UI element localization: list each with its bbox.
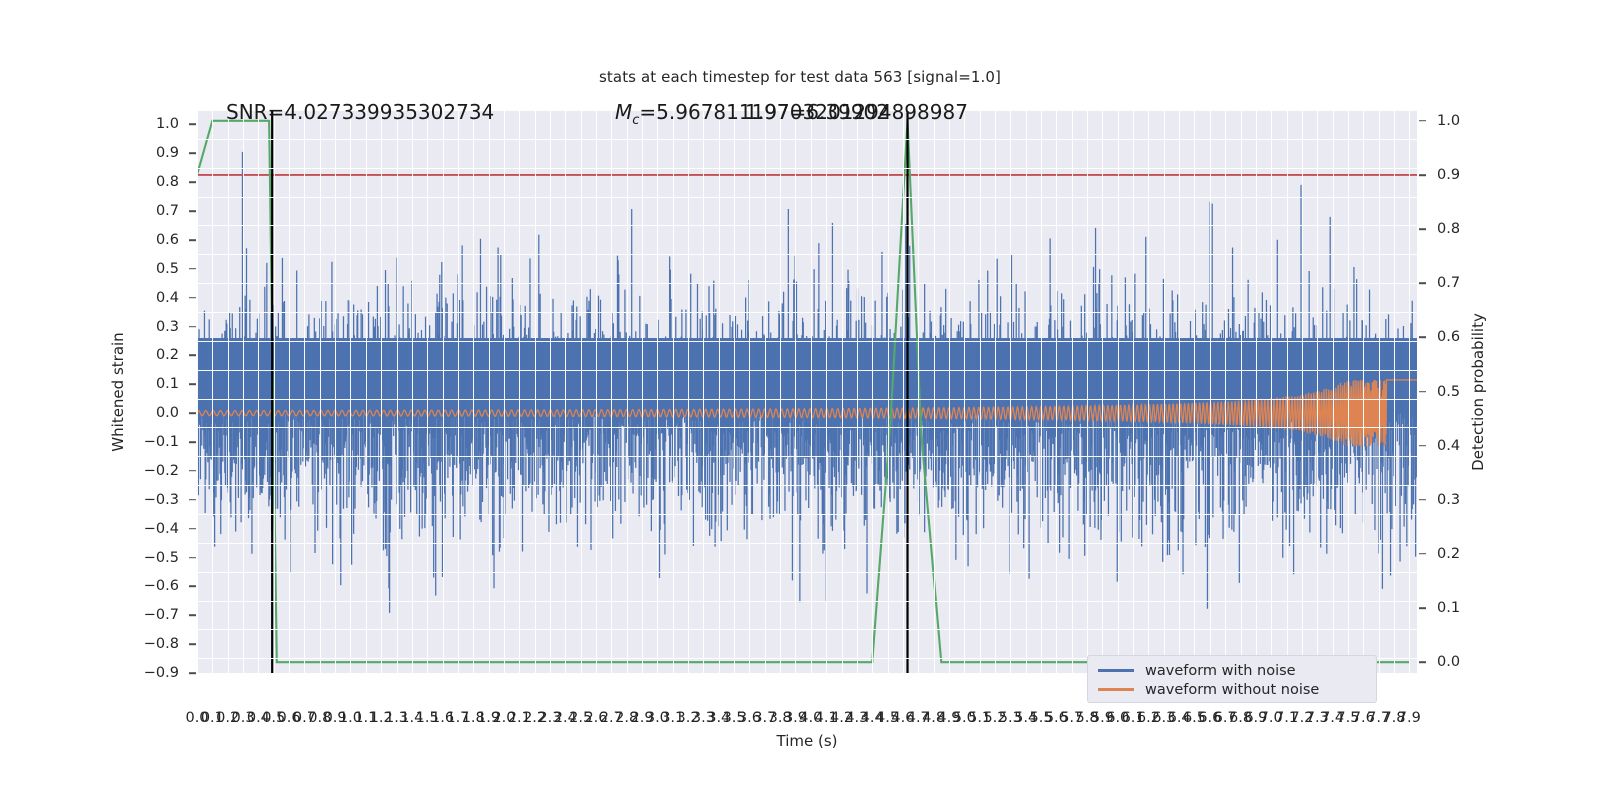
legend: waveform with noisewaveform without nois… xyxy=(1087,655,1377,703)
gridline-v xyxy=(888,110,889,673)
y-tick-label-left: −0.5 xyxy=(123,550,179,566)
y-tick-label-left: 0.6 xyxy=(123,232,179,248)
y-tick-label-right: 0.9 xyxy=(1437,167,1493,183)
y-tick-label-left: −0.7 xyxy=(123,607,179,623)
gridline-v xyxy=(397,110,398,673)
y-tick-label-right: 0.6 xyxy=(1437,329,1493,345)
y-tick-mark-left xyxy=(189,672,196,674)
gridline-h xyxy=(197,254,1417,255)
gridline-v xyxy=(642,110,643,673)
y-tick-mark-right xyxy=(1419,553,1426,555)
gridline-h xyxy=(197,601,1417,602)
y-tick-label-left: −0.4 xyxy=(123,521,179,537)
gridline-v xyxy=(934,110,935,673)
gridline-v xyxy=(1118,110,1119,673)
gridline-v xyxy=(734,110,735,673)
gridline-v xyxy=(673,110,674,673)
gridline-v xyxy=(1287,110,1288,673)
legend-label: waveform without noise xyxy=(1145,682,1319,698)
gridline-v xyxy=(1210,110,1211,673)
y-tick-mark-left xyxy=(189,470,196,472)
data-series-layer xyxy=(197,110,1417,673)
gridline-v xyxy=(1333,110,1334,673)
y-tick-label-left: 0.8 xyxy=(123,174,179,190)
gridline-v xyxy=(1010,110,1011,673)
gridline-h xyxy=(197,629,1417,630)
gridline-v xyxy=(980,110,981,673)
gridline-v xyxy=(519,110,520,673)
gridline-h xyxy=(197,225,1417,226)
y-tick-label-left: 0.0 xyxy=(123,405,179,421)
y-tick-mark-left xyxy=(189,210,196,212)
y-tick-mark-right xyxy=(1419,337,1426,339)
gridline-v xyxy=(535,110,536,673)
gridline-v xyxy=(1179,110,1180,673)
y-tick-mark-left xyxy=(189,181,196,183)
gridline-h xyxy=(197,370,1417,371)
y-tick-mark-left xyxy=(189,153,196,155)
gridline-v xyxy=(565,110,566,673)
gridline-v xyxy=(381,110,382,673)
gridline-v xyxy=(550,110,551,673)
y-tick-label-right: 0.1 xyxy=(1437,600,1493,616)
y-tick-mark-right xyxy=(1419,120,1426,122)
gridline-v xyxy=(304,110,305,673)
gridline-h xyxy=(197,543,1417,544)
gridline-v xyxy=(289,110,290,673)
y-tick-label-right: 0.8 xyxy=(1437,221,1493,237)
gridline-v xyxy=(688,110,689,673)
gridline-v xyxy=(366,110,367,673)
gridline-v xyxy=(1409,110,1410,673)
gridline-v xyxy=(719,110,720,673)
gridline-v xyxy=(443,110,444,673)
y-tick-mark-left xyxy=(189,239,196,241)
y-tick-mark-left xyxy=(189,643,196,645)
y-tick-label-left: −0.9 xyxy=(123,665,179,681)
y-tick-label-right: 0.7 xyxy=(1437,275,1493,291)
gridline-v xyxy=(212,110,213,673)
gridline-h xyxy=(197,139,1417,140)
y-tick-label-left: −0.6 xyxy=(123,578,179,594)
gridline-v xyxy=(749,110,750,673)
gridline-v xyxy=(1102,110,1103,673)
y-tick-label-right: 0.0 xyxy=(1437,654,1493,670)
gridline-v xyxy=(611,110,612,673)
legend-swatch xyxy=(1098,688,1134,691)
gridline-v xyxy=(964,110,965,673)
annotation-snr: SNR=4.027339935302734 xyxy=(226,100,494,124)
gridline-h xyxy=(197,341,1417,342)
gridline-h xyxy=(197,168,1417,169)
y-tick-mark-right xyxy=(1419,228,1426,230)
gridline-v xyxy=(995,110,996,673)
y-tick-label-right: 1.0 xyxy=(1437,113,1493,129)
y-tick-label-right: 0.2 xyxy=(1437,546,1493,562)
gridline-h xyxy=(197,197,1417,198)
gridline-h xyxy=(197,572,1417,573)
y-tick-label-left: 0.5 xyxy=(123,261,179,277)
page-title: stats at each timestep for test data 563… xyxy=(0,68,1600,86)
gridline-h xyxy=(197,312,1417,313)
y-tick-mark-left xyxy=(189,326,196,328)
gridline-h xyxy=(197,427,1417,428)
y-tick-mark-right xyxy=(1419,499,1426,501)
legend-item: waveform with noise xyxy=(1098,661,1366,680)
gridline-v xyxy=(1072,110,1073,673)
y-tick-label-right: 0.4 xyxy=(1437,438,1493,454)
gridline-v xyxy=(274,110,275,673)
gridline-v xyxy=(1194,110,1195,673)
y-tick-mark-left xyxy=(189,557,196,559)
gridline-v xyxy=(1225,110,1226,673)
y-tick-mark-left xyxy=(189,297,196,299)
y-tick-mark-right xyxy=(1419,391,1426,393)
gridline-v xyxy=(1148,110,1149,673)
gridline-v xyxy=(1348,110,1349,673)
gridline-v xyxy=(1271,110,1272,673)
y-tick-label-left: 1.0 xyxy=(123,116,179,132)
gridline-v xyxy=(473,110,474,673)
gridline-v xyxy=(826,110,827,673)
gridline-v xyxy=(657,110,658,673)
gridline-v xyxy=(1317,110,1318,673)
y-tick-mark-left xyxy=(189,528,196,530)
gridline-v xyxy=(243,110,244,673)
gridline-v xyxy=(335,110,336,673)
gridline-h xyxy=(197,283,1417,284)
x-tick-label: 7.9 xyxy=(1398,710,1421,726)
gridline-v xyxy=(703,110,704,673)
y-tick-mark-left xyxy=(189,383,196,385)
gridline-v xyxy=(795,110,796,673)
y-tick-label-right: 0.5 xyxy=(1437,384,1493,400)
y-tick-label-right: 0.3 xyxy=(1437,492,1493,508)
gridline-v xyxy=(596,110,597,673)
gridline-v xyxy=(458,110,459,673)
legend-item: waveform without noise xyxy=(1098,680,1366,699)
gridline-v xyxy=(412,110,413,673)
gridline-v xyxy=(872,110,873,673)
y-tick-label-left: −0.8 xyxy=(123,636,179,652)
x-axis-label: Time (s) xyxy=(777,732,838,750)
y-tick-mark-left xyxy=(189,586,196,588)
y-tick-mark-left xyxy=(189,268,196,270)
y-tick-mark-left xyxy=(189,355,196,357)
gridline-v xyxy=(1302,110,1303,673)
gridline-v xyxy=(857,110,858,673)
y-tick-mark-left xyxy=(189,499,196,501)
gridline-v xyxy=(842,110,843,673)
gridline-v xyxy=(350,110,351,673)
gridline-v xyxy=(1133,110,1134,673)
y-tick-label-left: 0.1 xyxy=(123,376,179,392)
gridline-v xyxy=(320,110,321,673)
gridline-v xyxy=(427,110,428,673)
y-tick-label-left: 0.3 xyxy=(123,319,179,335)
gridline-v xyxy=(1164,110,1165,673)
y-tick-label-left: 0.9 xyxy=(123,145,179,161)
gridline-v xyxy=(1394,110,1395,673)
gridline-v xyxy=(1256,110,1257,673)
legend-label: waveform with noise xyxy=(1145,663,1296,679)
y-tick-label-left: −0.2 xyxy=(123,463,179,479)
y-tick-mark-left xyxy=(189,124,196,126)
y-tick-label-left: 0.2 xyxy=(123,347,179,363)
gridline-h xyxy=(197,399,1417,400)
gridline-v xyxy=(918,110,919,673)
y-tick-mark-right xyxy=(1419,607,1426,609)
gridline-v xyxy=(1087,110,1088,673)
gridline-v xyxy=(949,110,950,673)
gridline-v xyxy=(1379,110,1380,673)
y-tick-mark-left xyxy=(189,441,196,443)
y-tick-mark-right xyxy=(1419,445,1426,447)
y-tick-label-left: 0.7 xyxy=(123,203,179,219)
y-tick-label-left: −0.3 xyxy=(123,492,179,508)
y-tick-mark-left xyxy=(189,412,196,414)
gridline-v xyxy=(228,110,229,673)
gridline-v xyxy=(489,110,490,673)
gridline-v xyxy=(581,110,582,673)
gridline-v xyxy=(1041,110,1042,673)
annotation-mc-symbol: M xyxy=(615,100,632,124)
gridline-v xyxy=(258,110,259,673)
gridline-v xyxy=(1241,110,1242,673)
gridline-v xyxy=(1056,110,1057,673)
gridline-v xyxy=(765,110,766,673)
gridline-v xyxy=(504,110,505,673)
gridline-v xyxy=(903,110,904,673)
legend-swatch xyxy=(1098,669,1134,672)
gridline-v xyxy=(1363,110,1364,673)
gridline-h xyxy=(197,514,1417,515)
annotation-overlapping-value: 1.97=6.39902 xyxy=(745,100,889,124)
plot-axes xyxy=(197,110,1417,673)
y-tick-mark-right xyxy=(1419,282,1426,284)
gridline-v xyxy=(197,110,198,673)
gridline-v xyxy=(627,110,628,673)
gridline-h xyxy=(197,456,1417,457)
figure-canvas: stats at each timestep for test data 563… xyxy=(0,0,1600,800)
gridline-v xyxy=(811,110,812,673)
gridline-v xyxy=(780,110,781,673)
y-tick-mark-left xyxy=(189,614,196,616)
y-tick-mark-right xyxy=(1419,174,1426,176)
gridline-v xyxy=(1026,110,1027,673)
y-tick-label-left: 0.4 xyxy=(123,290,179,306)
y-tick-label-left: −0.1 xyxy=(123,434,179,450)
gridline-h xyxy=(197,485,1417,486)
y-tick-mark-right xyxy=(1419,661,1426,663)
